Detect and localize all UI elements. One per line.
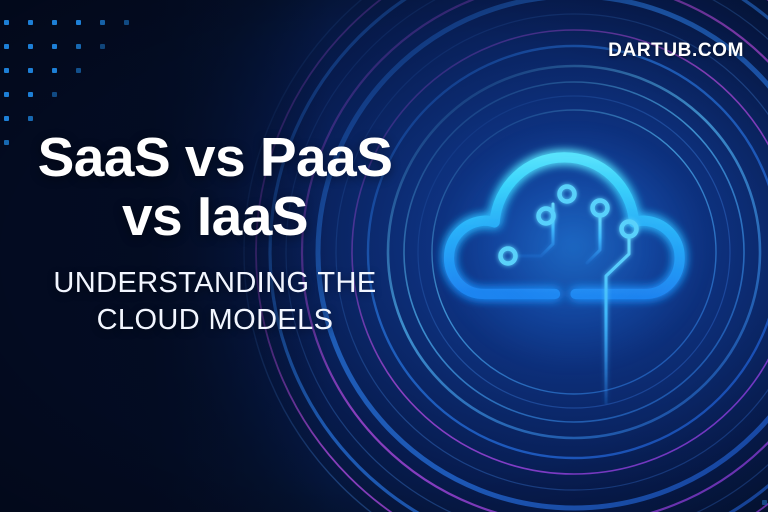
cloud-circuit-graphic <box>424 104 724 404</box>
subtitle-line-1: UNDERSTANDING THE <box>53 267 376 299</box>
subtitle-line-2: CLOUD MODELS <box>0 302 430 339</box>
title-line-2: vs IaaS <box>0 187 430 246</box>
page-title: SaaS vs PaaS vs IaaS <box>0 128 430 247</box>
cloud-models-banner: DARTUB.COM SaaS vs PaaS vs IaaS UNDERSTA… <box>0 0 768 512</box>
page-subtitle: UNDERSTANDING THE CLOUD MODELS <box>0 265 430 339</box>
text-block: SaaS vs PaaS vs IaaS UNDERSTANDING THE C… <box>0 128 430 339</box>
cloud-glow <box>442 128 706 368</box>
title-line-1: SaaS vs PaaS <box>38 126 393 188</box>
brand-wordmark: DARTUB.COM <box>608 40 744 62</box>
